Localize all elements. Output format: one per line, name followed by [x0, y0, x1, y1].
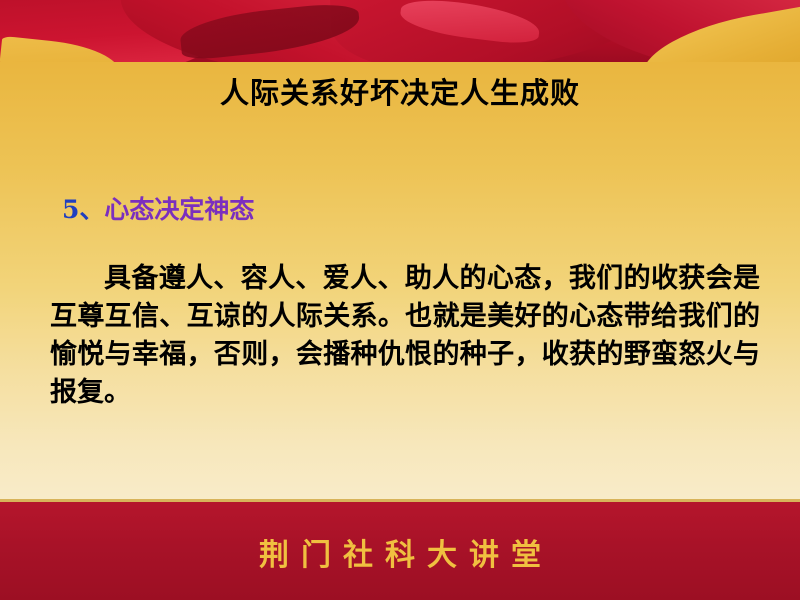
presentation-slide: 人际关系好坏决定人生成败 5、心态决定神态 具备遵人、容人、爱人、助人的心态，我…	[0, 0, 800, 600]
slide-subheading: 5、心态决定神态	[62, 190, 254, 226]
subheading-number: 5、	[62, 195, 104, 224]
footer-band: 荆门社科大讲堂	[0, 499, 800, 600]
slide-body-paragraph: 具备遵人、容人、爱人、助人的心态，我们的收获会是互尊互信、互谅的人际关系。也就是…	[50, 260, 760, 412]
top-ribbon-decoration	[0, 0, 800, 62]
subheading-label: 心态决定神态	[104, 195, 254, 224]
footer-organization-name: 荆门社科大讲堂	[0, 530, 800, 574]
slide-title: 人际关系好坏决定人生成败	[0, 70, 800, 112]
